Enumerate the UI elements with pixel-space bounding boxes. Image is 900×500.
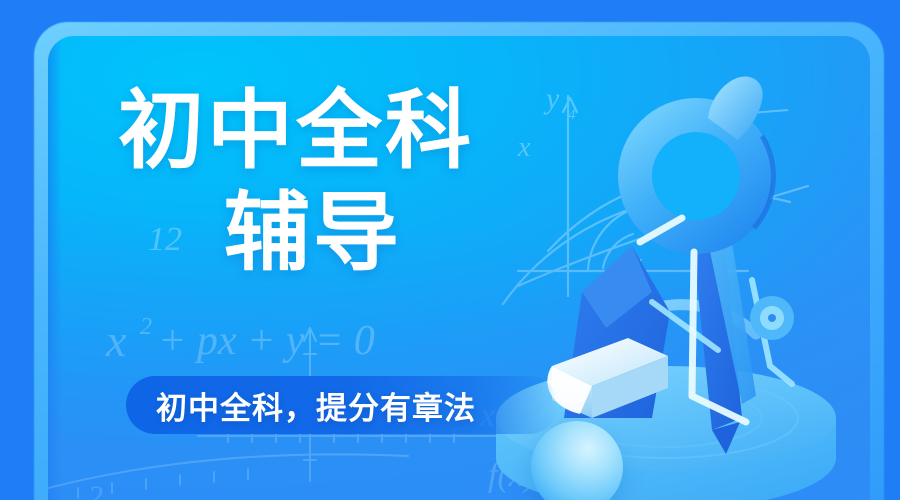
svg-text:x: x: [105, 315, 127, 366]
subtitle-text: 初中全科，提分有章法: [156, 383, 476, 428]
headline-group: 初中全科 辅导: [118, 88, 588, 277]
svg-text:+ px + y = 0: + px + y = 0: [158, 318, 375, 364]
card-left-edge-shade: [48, 36, 62, 500]
svg-text:2: 2: [88, 480, 103, 500]
banner-card: y 4 α α β: [48, 36, 870, 500]
promo-banner: y 4 α α β: [0, 0, 900, 500]
subtitle-pill[interactable]: 初中全科，提分有章法: [126, 376, 558, 434]
title-line-1: 初中全科: [118, 88, 588, 176]
title-line-2: 辅导: [224, 190, 588, 278]
svg-text:2: 2: [140, 314, 152, 340]
